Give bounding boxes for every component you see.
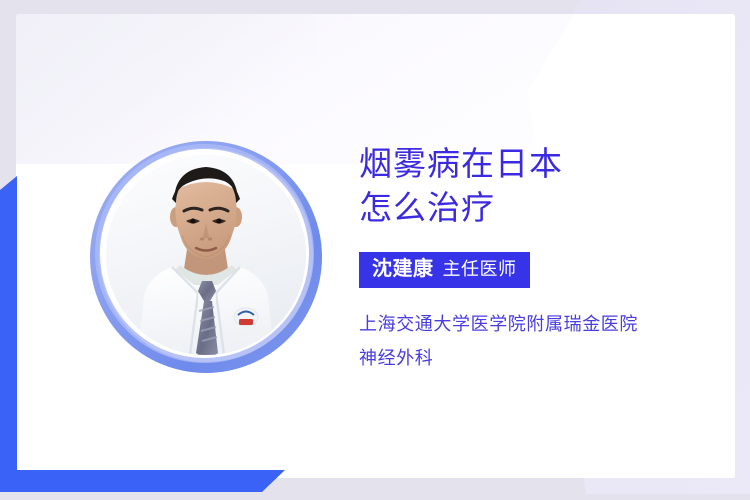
bottom-accent-bar — [0, 470, 285, 492]
portrait-illustration — [106, 155, 306, 355]
page-title: 烟雾病在日本 怎么治疗 — [359, 142, 735, 230]
doctor-name: 沈建康 — [372, 258, 434, 280]
affiliation-block: 上海交通大学医学院附属瑞金医院 神经外科 — [359, 307, 735, 375]
doctor-portrait-photo — [106, 155, 306, 355]
doctor-title: 主任医师 — [443, 259, 517, 279]
coat-emblem-icon — [234, 308, 258, 326]
left-accent-bar — [0, 176, 17, 472]
card-text-column: 烟雾病在日本 怎么治疗 沈建康主任医师 上海交通大学医学院附属瑞金医院 神经外科 — [359, 142, 735, 375]
avatar — [90, 141, 322, 373]
doctor-profile-card: 烟雾病在日本 怎么治疗 沈建康主任医师 上海交通大学医学院附属瑞金医院 神经外科 — [16, 14, 735, 478]
promo-card-canvas: 烟雾病在日本 怎么治疗 沈建康主任医师 上海交通大学医学院附属瑞金医院 神经外科 — [0, 0, 750, 500]
doctor-name-badge: 沈建康主任医师 — [359, 252, 530, 288]
department-name: 神经外科 — [359, 341, 735, 375]
hospital-name: 上海交通大学医学院附属瑞金医院 — [359, 307, 735, 341]
